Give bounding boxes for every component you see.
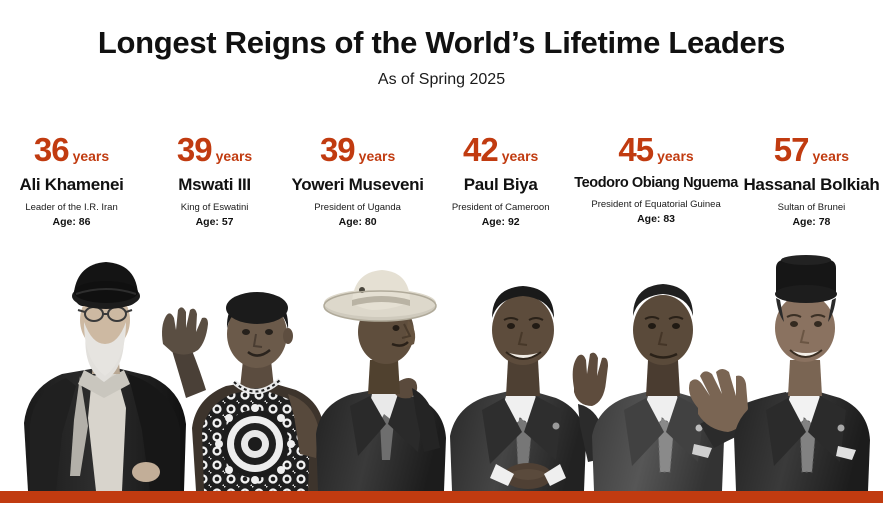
years-word: years: [813, 148, 850, 164]
years-word: years: [359, 148, 396, 164]
years-word: years: [73, 148, 110, 164]
leader-name: Mswati III: [145, 175, 284, 195]
years-number: 36: [34, 131, 69, 168]
leader-name: Paul Biya: [431, 175, 570, 195]
years-number: 39: [177, 131, 212, 168]
leader-role: Leader of the I.R. Iran: [2, 202, 141, 215]
leader-column-mswati-iii: 39years Mswati III King of Eswatini Age:…: [143, 133, 286, 230]
years-number: 39: [320, 131, 355, 168]
years-line: 45years: [574, 133, 738, 166]
bottom-white-margin: [0, 503, 883, 513]
leader-age: Age: 86: [2, 215, 141, 229]
years-word: years: [216, 148, 253, 164]
leader-role: King of Eswatini: [145, 202, 284, 215]
years-line: 57years: [742, 133, 881, 166]
page-subtitle: As of Spring 2025: [0, 61, 883, 89]
leader-column-ali-khamenei: 36years Ali Khamenei Leader of the I.R. …: [0, 133, 143, 230]
header: Longest Reigns of the World’s Lifetime L…: [0, 0, 883, 89]
leader-name: Hassanal Bolkiah: [742, 175, 881, 195]
leader-age: Age: 80: [288, 215, 427, 229]
leader-age: Age: 78: [742, 215, 881, 229]
bottom-accent-bar: [0, 491, 883, 503]
leader-age: Age: 92: [431, 215, 570, 229]
leader-role: Sultan of Brunei: [742, 202, 881, 215]
leader-column-paul-biya: 42years Paul Biya President of Cameroon …: [429, 133, 572, 230]
leader-age: Age: 57: [145, 215, 284, 229]
years-line: 39years: [288, 133, 427, 166]
leader-role: President of Cameroon: [431, 202, 570, 215]
leader-role: President of Uganda: [288, 202, 427, 215]
leaders-stats-row: 36years Ali Khamenei Leader of the I.R. …: [0, 133, 883, 230]
years-word: years: [502, 148, 539, 164]
leader-age: Age: 83: [574, 212, 738, 226]
leader-column-hassanal-bolkiah: 57years Hassanal Bolkiah Sultan of Brune…: [740, 133, 883, 230]
page-title: Longest Reigns of the World’s Lifetime L…: [0, 0, 883, 61]
years-number: 45: [618, 131, 653, 168]
infographic-root: Longest Reigns of the World’s Lifetime L…: [0, 0, 883, 513]
years-number: 57: [774, 131, 809, 168]
years-word: years: [657, 148, 694, 164]
years-line: 36years: [2, 133, 141, 166]
years-line: 39years: [145, 133, 284, 166]
years-line: 42years: [431, 133, 570, 166]
leader-name: Teodoro Obiang Nguema: [574, 175, 738, 192]
leader-column-teodoro-obiang-nguema: 45years Teodoro Obiang Nguema President …: [572, 133, 740, 227]
portraits-photo-strip: [0, 248, 883, 491]
leader-role: President of Equatorial Guinea: [574, 199, 738, 212]
leader-column-yoweri-museveni: 39years Yoweri Museveni President of Uga…: [286, 133, 429, 230]
years-number: 42: [463, 131, 498, 168]
leader-name: Ali Khamenei: [2, 175, 141, 195]
leader-name: Yoweri Museveni: [288, 175, 427, 195]
